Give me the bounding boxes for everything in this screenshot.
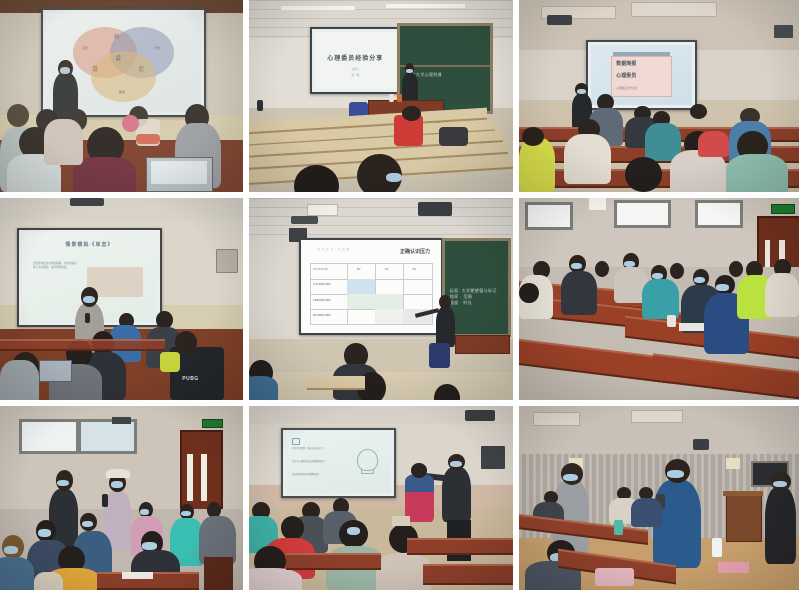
- desk-row: [286, 553, 381, 570]
- slide-bullet-2: 如何帮助寝室同学缓解焦虑？: [292, 474, 347, 478]
- slide-eyebrow: 压力水平/压力源: [318, 247, 351, 251]
- lightbulb-base: [361, 469, 373, 474]
- photo-tile-bottom-center[interactable]: 分享你的经验，你如何应对压力？ 你认为心理委员应该具备哪些能力？ 如何帮助寝室同…: [249, 406, 513, 590]
- table-header-1: 低压: [357, 268, 361, 271]
- photo-tile-top-center[interactable]: 心理委员经验分享 主讲人 第一期 清华大学心理科普: [249, 0, 513, 192]
- student-mask: [716, 284, 729, 291]
- slide-subtitle-2: 第一期: [315, 73, 396, 77]
- table-cell-highlight: [375, 294, 403, 309]
- ceiling-panel: [631, 2, 717, 17]
- lightbulb-icon: [357, 449, 378, 471]
- water-bottle: [712, 538, 722, 556]
- microphone: [85, 313, 90, 323]
- slide-bullet-1: 你认为心理委员应该具备哪些能力？: [292, 461, 347, 465]
- audience-body: [44, 119, 83, 165]
- blue-chair: [429, 343, 450, 367]
- window: [19, 419, 78, 454]
- table-header-2: 中压: [384, 268, 388, 271]
- speaker-mask: [577, 89, 586, 94]
- ceiling-panel: [533, 412, 580, 427]
- student-right-body: [765, 487, 796, 564]
- slide-title-line1: 数据简报: [616, 60, 636, 67]
- venn-circle-emotion: [91, 51, 156, 103]
- photo-tile-top-left[interactable]: 认知 行为 情感 想法 信念 情绪 感受 动作 反应 心理 健康: [0, 0, 243, 192]
- audience-body: [0, 557, 34, 590]
- audience-mask: [140, 509, 150, 515]
- venn-overlap-top: 想法 信念: [114, 35, 119, 40]
- student-body: [765, 273, 799, 317]
- table-row-label-2: 期末近期需求或需求: [313, 314, 331, 317]
- venn-overlap-left: 情绪 感受: [93, 67, 98, 72]
- audience-body: [564, 134, 612, 184]
- bottle: [667, 315, 675, 327]
- audience-body: [0, 360, 39, 400]
- photo-tile-bottom-left[interactable]: [0, 406, 243, 590]
- audience-body: [519, 138, 555, 192]
- projector: [547, 15, 572, 25]
- wall-speaker: [216, 249, 237, 273]
- door-glass: [187, 454, 192, 501]
- microphone: [102, 494, 108, 507]
- audience-head: [625, 157, 661, 192]
- pink-item: [122, 115, 139, 132]
- table-cell-highlight: [347, 294, 375, 309]
- laptop: [39, 360, 73, 382]
- audience-body: [698, 131, 729, 158]
- student-center-mask: [667, 470, 684, 478]
- window: [614, 200, 670, 228]
- foreground-mask: [386, 173, 402, 183]
- ceiling-light: [589, 198, 606, 210]
- thermos: [257, 100, 263, 112]
- student-mask: [571, 263, 582, 269]
- ceiling-panel: [631, 410, 683, 423]
- chalkboard-text: 括弧: 大学期望值与标记 频率 · 范围 强度 · 时长: [450, 288, 497, 306]
- presenter-body: [436, 307, 454, 347]
- exit-sign-icon: [771, 204, 795, 214]
- podium: [726, 492, 762, 542]
- slide-surface: 分享你的经验，你如何应对压力？ 你认为心理委员应该具备哪些能力？ 如何帮助寝室同…: [286, 433, 391, 493]
- audience-mask: [181, 511, 191, 517]
- audience-mask: [4, 546, 19, 554]
- lecture-hall-wide-scene: 正确认识压力 压力水平/压力源 压力水平/压力源: [249, 198, 513, 400]
- wall-sconce: [726, 458, 740, 469]
- desk-row: [423, 564, 513, 585]
- audience-mask: [38, 529, 51, 536]
- student-head: [595, 261, 609, 277]
- lecture-hall-scene: 情景模拟·《单恋》 志愿者将会演示情景模拟，并在演演后金与大家求助，进行经验交流…: [0, 198, 243, 400]
- podium-top: [723, 491, 762, 497]
- student-body: [642, 279, 678, 319]
- student-body: [561, 271, 597, 315]
- photo-collage: 认知 行为 情感 想法 信念 情绪 感受 动作 反应 心理 健康: [0, 0, 799, 590]
- cushion: [595, 568, 634, 586]
- audience-head: [7, 104, 29, 127]
- table-cell-highlight: [375, 309, 403, 324]
- conference-room-scene: [519, 406, 799, 590]
- slide-title: 正确认识压力: [400, 248, 430, 255]
- bottle: [397, 94, 402, 102]
- participant-head: [411, 463, 427, 478]
- audience-body: [249, 568, 302, 590]
- ceiling: [0, 198, 243, 220]
- projector: [70, 198, 104, 206]
- audience-body: [34, 572, 63, 590]
- wall-speaker: [481, 446, 505, 468]
- audience-mask: [142, 542, 157, 550]
- ceiling-light: [281, 6, 355, 10]
- exit-sign-icon: [202, 419, 223, 428]
- chair-back: [204, 557, 233, 590]
- lectern-desk: [455, 335, 510, 353]
- name-card: [718, 562, 749, 573]
- red-item: [136, 134, 160, 144]
- student-mask: [694, 277, 705, 283]
- backpack-text: PUBG: [182, 376, 198, 382]
- presenter-mask: [60, 67, 71, 74]
- presenter-mask: [406, 69, 413, 73]
- baseball-cap: [106, 469, 130, 478]
- photo-tile-top-right[interactable]: 数据简报 心理委员 心理委员工作记录: [519, 0, 799, 192]
- projector-arm: [291, 216, 317, 224]
- slide-body: 志愿者将会演示情景模拟，并在演演后金与大家求助，进行经验交流。: [33, 262, 79, 270]
- audience-head: [175, 331, 197, 353]
- table-cell-highlight: [347, 279, 375, 294]
- black-bag: [439, 127, 468, 146]
- slide-title: 情景模拟·《单恋》: [22, 241, 157, 248]
- door-glass: [201, 454, 206, 501]
- table-row-label-0: 学业不前需求或需求: [313, 283, 331, 286]
- student-head: [670, 263, 684, 279]
- projection-screen: 心理委员经验分享 主讲人 第一期: [310, 27, 401, 94]
- audience-body: [631, 498, 662, 527]
- bench-row: [307, 376, 365, 390]
- table-row-label-1: 中期阶段需求或需求: [313, 299, 331, 302]
- student-head: [402, 106, 420, 121]
- notebook: [679, 323, 704, 331]
- desk-row: [0, 339, 165, 351]
- photo-tile-middle-left[interactable]: 情景模拟·《单恋》 志愿者将会演示情景模拟，并在演演后金与大家求助，进行经验交流…: [0, 198, 243, 400]
- window: [695, 200, 743, 228]
- student-right-mask: [773, 481, 787, 488]
- table-header-3: 高压: [412, 268, 416, 271]
- wall-speaker: [112, 417, 131, 424]
- audience-body: [726, 154, 788, 192]
- audience-head: [690, 104, 707, 119]
- venn-overlap-center: 心理 健康: [116, 56, 121, 61]
- desk-row: [407, 538, 513, 555]
- photo-tile-middle-center[interactable]: 正确认识压力 压力水平/压力源 压力水平/压力源: [249, 198, 513, 400]
- audience-rows-scene: [519, 198, 799, 400]
- wall-speaker: [774, 25, 794, 38]
- window: [525, 202, 573, 230]
- audience-mask: [347, 527, 360, 534]
- projection-screen: 正确认识压力 压力水平/压力源 压力水平/压力源: [299, 238, 443, 335]
- audience-qa-scene: [0, 406, 243, 590]
- venn-label-cognition: 认知: [82, 46, 88, 50]
- bag-accent: [160, 352, 179, 372]
- audience-mask: [82, 521, 93, 527]
- photo-tile-middle-right[interactable]: [519, 198, 799, 400]
- projector: [465, 410, 494, 421]
- table-header-0: 压力水平/压力源: [313, 268, 328, 271]
- slide-badge: [292, 438, 300, 445]
- cap: [392, 516, 410, 525]
- projection-screen: 分享你的经验，你如何应对压力？ 你认为心理委员应该具备哪些能力？ 如何帮助寝室同…: [281, 428, 396, 498]
- lecture-hall-scene: 认知 行为 情感 想法 信念 情绪 感受 动作 反应 心理 健康: [0, 0, 243, 192]
- student-mask: [652, 273, 663, 279]
- slide-footer: 心理委员工作记录: [616, 86, 637, 90]
- ceiling-light: [307, 204, 338, 216]
- student-head: [729, 261, 743, 277]
- venn-label-behavior: 行为: [154, 46, 160, 50]
- venn-overlap-right: 动作 反应: [139, 67, 144, 72]
- slide-table: 压力水平/压力源 低压 中压 高压 学业不前需求或需求 中期阶段需求或需求 期末…: [310, 263, 433, 326]
- ceiling-light: [386, 4, 465, 8]
- presenter-mask: [83, 296, 95, 303]
- slide-surface: 心理委员经验分享 主讲人 第一期: [315, 32, 396, 89]
- audience-body: [73, 157, 136, 192]
- venn-label-emotion: 情感: [119, 90, 125, 94]
- slide-bullet-0: 分享你的经验，你如何应对压力？: [292, 448, 347, 452]
- slide-title-line2: 心理委员: [616, 72, 636, 79]
- student-head: [519, 283, 539, 303]
- laptop-display: [151, 161, 207, 184]
- audience-head: [522, 127, 544, 146]
- audience-body: [249, 376, 278, 400]
- projector: [418, 202, 452, 216]
- paper: [122, 572, 154, 579]
- question-asker-mask: [111, 481, 123, 488]
- slide-title: 心理委员经验分享: [315, 53, 396, 62]
- lecture-hall-wide-scene: 心理委员经验分享 主讲人 第一期 清华大学心理科普: [249, 0, 513, 192]
- lecture-hall-scene: 分享你的经验，你如何应对压力？ 你认为心理委员应该具备哪些能力？ 如何帮助寝室同…: [249, 406, 513, 590]
- student-mask: [624, 261, 635, 267]
- ceiling-speaker: [693, 439, 710, 450]
- bottle: [614, 520, 622, 535]
- bottle: [389, 94, 394, 102]
- auditorium-scene: 数据简报 心理委员 心理委员工作记录: [519, 0, 799, 192]
- photo-tile-bottom-right[interactable]: [519, 406, 799, 590]
- slide-subtitle-1: 主讲人: [315, 67, 396, 71]
